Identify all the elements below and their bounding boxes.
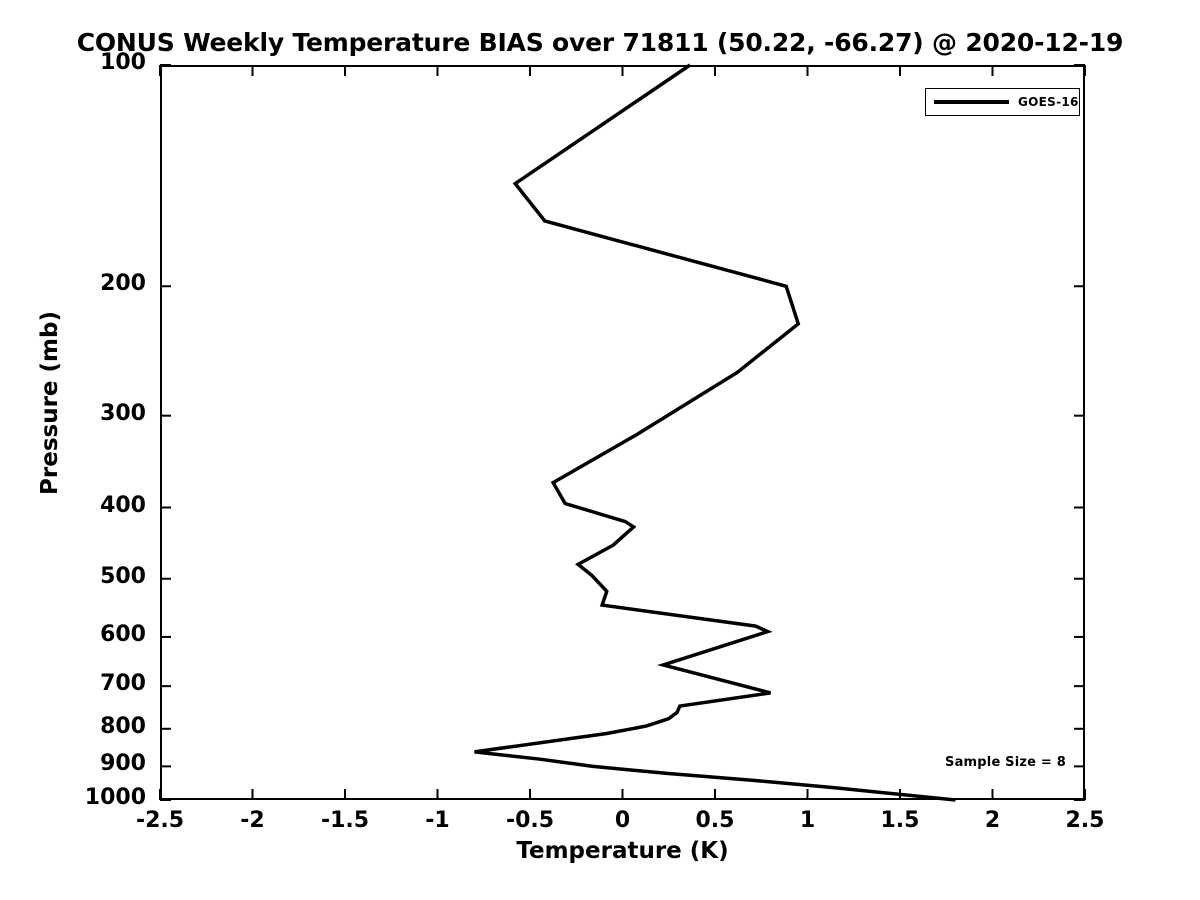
sample-size-annotation: Sample Size = 8	[945, 755, 1066, 770]
x-axis-label: Temperature (K)	[160, 838, 1085, 864]
y-tick-label: 900	[26, 751, 146, 776]
y-axis-label: Pressure (mb)	[37, 293, 63, 513]
data-line-goes-16	[475, 65, 956, 800]
axis-ticks	[160, 65, 1085, 800]
chart-page: CONUS Weekly Temperature BIAS over 71811…	[0, 0, 1200, 900]
legend-line-swatch	[934, 100, 1009, 104]
y-tick-label: 100	[26, 50, 146, 75]
y-tick-label: 500	[26, 564, 146, 589]
y-tick-label: 800	[26, 714, 146, 739]
x-tick-label: 2.5	[1025, 808, 1145, 833]
data-series-layer	[475, 65, 956, 800]
y-tick-label: 700	[26, 671, 146, 696]
y-tick-label: 1000	[26, 785, 146, 810]
legend: GOES-16	[925, 88, 1080, 116]
y-tick-label: 600	[26, 622, 146, 647]
legend-label: GOES-16	[1018, 95, 1079, 109]
